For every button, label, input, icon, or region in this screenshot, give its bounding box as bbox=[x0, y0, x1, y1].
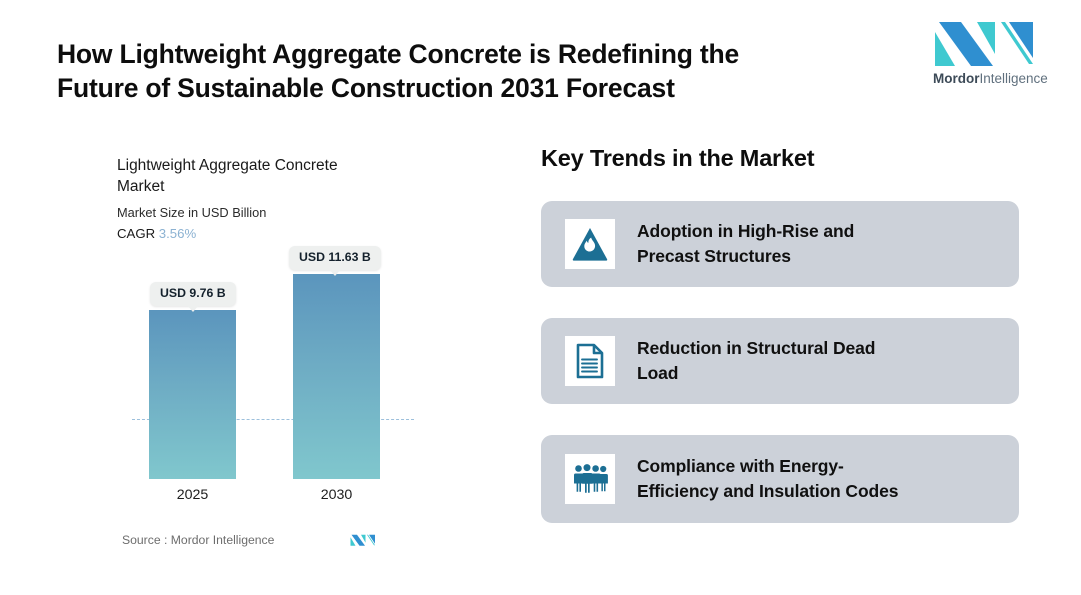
trend-card-label: Compliance with Energy- Efficiency and I… bbox=[637, 454, 898, 504]
key-trends-heading: Key Trends in the Market bbox=[541, 143, 1019, 173]
trend-label-line-2: Efficiency and Insulation Codes bbox=[637, 481, 898, 501]
mordor-intelligence-logo-mark bbox=[933, 20, 1037, 66]
trend-label-line-1: Adoption in High-Rise and bbox=[637, 221, 854, 241]
bar-2030 bbox=[293, 274, 380, 479]
bar-2025 bbox=[149, 310, 236, 479]
chart-cagr: CAGR 3.56% bbox=[117, 225, 437, 243]
trend-card-label: Adoption in High-Rise and Precast Struct… bbox=[637, 219, 854, 269]
trend-label-line-1: Reduction in Structural Dead bbox=[637, 338, 875, 358]
document-icon bbox=[570, 341, 610, 381]
trend-card-label: Reduction in Structural Dead Load bbox=[637, 336, 875, 386]
page-title-line-2: Future of Sustainable Construction 2031 … bbox=[57, 71, 857, 105]
brand-logo: MordorIntelligence bbox=[933, 20, 1045, 90]
chart-subtitle: Market Size in USD Billion bbox=[117, 204, 437, 221]
trend-label-line-2: Load bbox=[637, 363, 678, 383]
trend-card-compliance-energy-codes[interactable]: Compliance with Energy- Efficiency and I… bbox=[541, 435, 1019, 523]
flammable-triangle-icon bbox=[570, 224, 610, 264]
key-trends-panel: Key Trends in the Market Adoption in Hig… bbox=[541, 143, 1019, 523]
x-axis-label-2025: 2025 bbox=[149, 485, 236, 505]
chart-source-text: Source : Mordor Intelligence bbox=[122, 533, 274, 547]
cagr-label: CAGR bbox=[117, 226, 155, 241]
brand-wordmark-regular: Intelligence bbox=[980, 71, 1048, 86]
brand-wordmark-bold: Mordor bbox=[933, 71, 980, 86]
bar-value-label-2030: USD 11.63 B bbox=[289, 246, 381, 270]
x-axis-label-2030: 2030 bbox=[293, 485, 380, 505]
cagr-value: 3.56% bbox=[159, 226, 196, 241]
trend-icon-box bbox=[565, 336, 615, 386]
chart-panel: Lightweight Aggregate Concrete Market Ma… bbox=[117, 155, 437, 555]
people-group-icon bbox=[570, 459, 610, 499]
infographic-page: How Lightweight Aggregate Concrete is Re… bbox=[0, 0, 1081, 595]
bar-value-label-2025: USD 9.76 B bbox=[150, 282, 236, 306]
trend-icon-box bbox=[565, 454, 615, 504]
page-title: How Lightweight Aggregate Concrete is Re… bbox=[57, 37, 857, 105]
bar-chart-plot: USD 9.76 B USD 11.63 B 2025 2030 bbox=[117, 250, 437, 505]
trend-label-line-1: Compliance with Energy- bbox=[637, 456, 844, 476]
source-logo-icon bbox=[350, 532, 376, 548]
trend-card-adoption-high-rise[interactable]: Adoption in High-Rise and Precast Struct… bbox=[541, 201, 1019, 287]
chart-title: Lightweight Aggregate Concrete Market bbox=[117, 155, 379, 197]
page-title-line-1: How Lightweight Aggregate Concrete is Re… bbox=[57, 37, 857, 71]
chart-source-row: Source : Mordor Intelligence bbox=[122, 532, 412, 548]
trend-icon-box bbox=[565, 219, 615, 269]
trend-card-reduction-dead-load[interactable]: Reduction in Structural Dead Load bbox=[541, 318, 1019, 404]
trend-label-line-2: Precast Structures bbox=[637, 246, 791, 266]
brand-wordmark: MordorIntelligence bbox=[933, 71, 1045, 87]
